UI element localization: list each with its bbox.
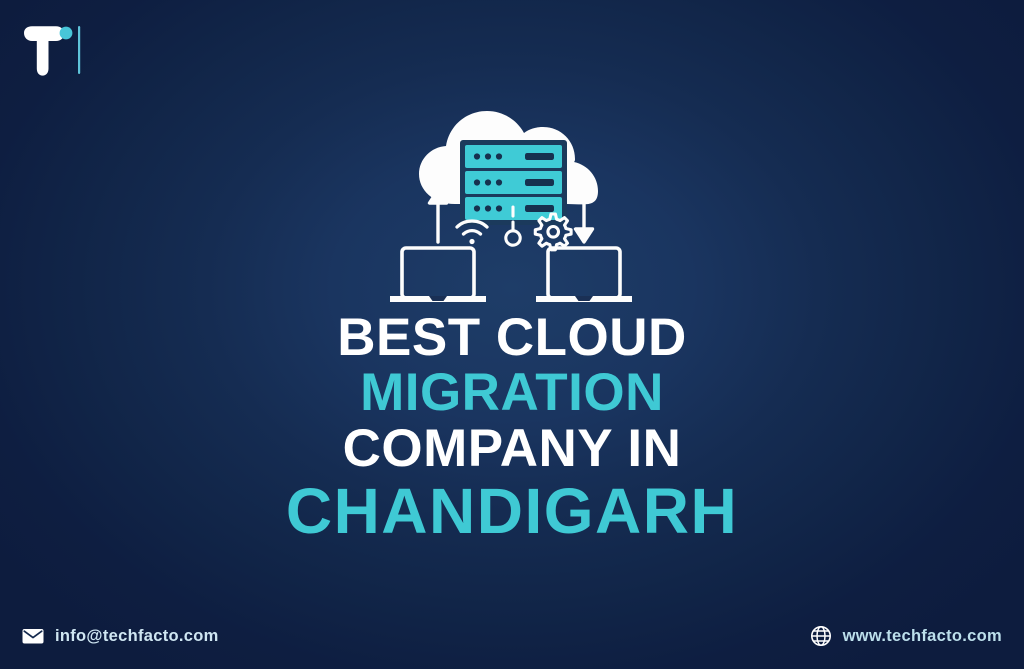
logo-accent-dot (60, 27, 73, 40)
email-text: info@techfacto.com (55, 627, 219, 646)
headline-line-1: BEST CLOUD (0, 312, 1024, 363)
laptop-icon (390, 248, 486, 302)
logo-divider (78, 26, 80, 74)
page-title: BEST CLOUD MIGRATION COMPANY IN CHANDIGA… (0, 312, 1024, 542)
headline-line-4: CHANDIGARH (0, 480, 1024, 542)
globe-icon (810, 625, 832, 647)
contact-email[interactable]: info@techfacto.com (22, 625, 219, 647)
logo-t-mark (24, 26, 64, 75)
techfacto-logo[interactable] (16, 24, 136, 80)
envelope-icon (22, 625, 44, 647)
website-text: www.techfacto.com (843, 627, 1002, 646)
promotional-banner: BEST CLOUD MIGRATION COMPANY IN CHANDIGA… (0, 0, 1024, 669)
headline-line-3: COMPANY IN (0, 423, 1024, 474)
laptop-icon (536, 248, 632, 302)
cloud-migration-illustration (385, 82, 640, 307)
up-arrow-icon (430, 190, 447, 242)
headline-line-2: MIGRATION (0, 367, 1024, 418)
website-link[interactable]: www.techfacto.com (810, 625, 1002, 647)
